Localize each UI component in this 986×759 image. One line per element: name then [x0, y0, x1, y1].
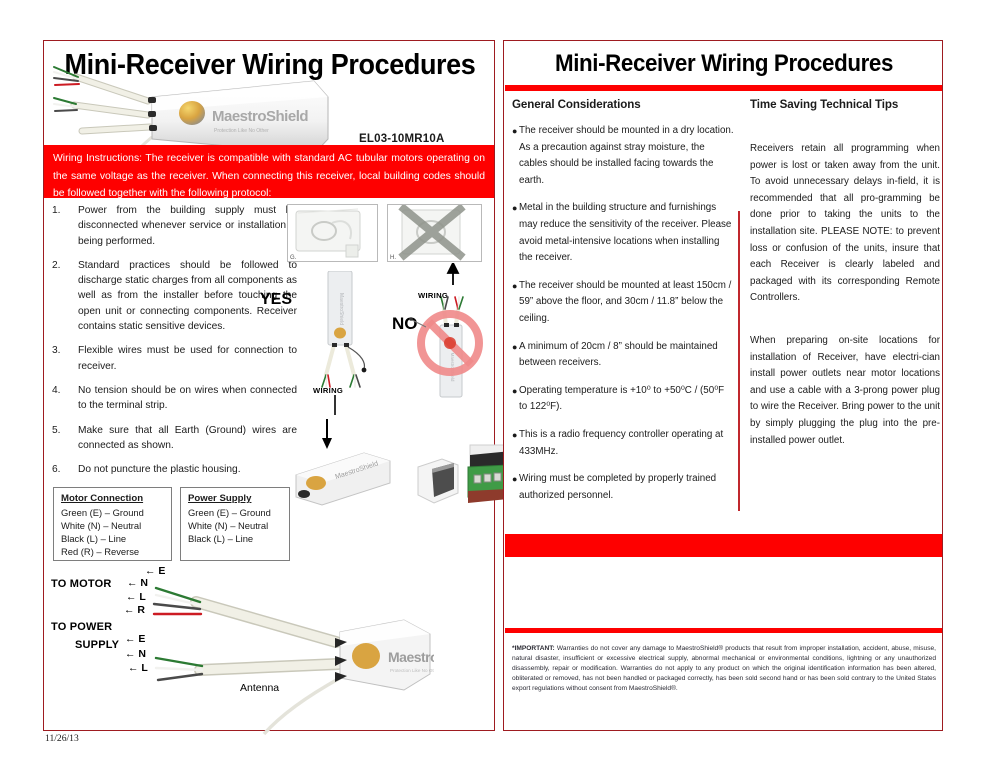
- wiring-instructions-banner: Wiring Instructions: The receiver is com…: [44, 145, 494, 198]
- list-item: 5. Make sure that all Earth (Ground) wir…: [52, 423, 297, 454]
- consideration-text: Operating temperature is +10⁰ to +50⁰C /…: [519, 383, 734, 416]
- list-item: 4. No tension should be on wires when co…: [52, 383, 297, 414]
- table-row: White (N) – Neutral: [188, 519, 282, 532]
- consideration-text: The receiver should be mounted at least …: [519, 278, 734, 328]
- list-item: ● This is a radio frequency controller o…: [512, 427, 734, 460]
- antenna-label: Antenna: [240, 682, 279, 694]
- date-stamp: 11/26/13: [45, 733, 79, 744]
- list-item: ● The receiver should be mounted in a dr…: [512, 123, 734, 189]
- general-considerations-heading: General Considerations: [512, 98, 641, 111]
- tip-paragraph: When preparing on-site locations for ins…: [750, 333, 940, 449]
- technical-tips-heading: Time Saving Technical Tips: [750, 98, 898, 111]
- warranty-disclaimer: *IMPORTANT: Warranties do not cover any …: [512, 644, 936, 694]
- protocol-step-list: 1. Power from the building supply must b…: [52, 203, 297, 486]
- warranty-label: *IMPORTANT:: [512, 645, 555, 652]
- step-number: 6.: [52, 462, 78, 477]
- table-heading: Motor Connection: [61, 493, 164, 504]
- yes-label: YES: [260, 291, 292, 309]
- table-row: Black (L) – Line: [61, 532, 164, 545]
- step-number: 5.: [52, 423, 78, 454]
- bullet-dot-icon: ●: [512, 278, 519, 328]
- right-panel: Mini-Receiver Wiring Procedures General …: [503, 40, 943, 731]
- enclosure-incorrect-illustration: [388, 205, 481, 261]
- table-heading: Power Supply: [188, 493, 282, 504]
- svg-text:MaestroShield: MaestroShield: [450, 353, 455, 382]
- tip-paragraph: Receivers retain all programming when po…: [750, 141, 940, 307]
- list-item: 6. Do not puncture the plastic housing.: [52, 462, 297, 477]
- model-number-1: EL03-10MR10A: [359, 133, 445, 145]
- enclosure-correct-illustration: [288, 205, 377, 261]
- table-row: Green (E) – Ground: [188, 506, 282, 519]
- red-separator-bar: [505, 534, 942, 557]
- step-text: Power from the building supply must be d…: [78, 203, 297, 249]
- wiring-caption-no: WIRING: [418, 291, 448, 300]
- list-item: ● The receiver should be mounted at leas…: [512, 278, 734, 328]
- step-number: 3.: [52, 343, 78, 374]
- wiring-connection-diagram-photo: MaestroShield Protection Like No Other: [104, 586, 434, 736]
- sample-tag-h: H.: [390, 255, 396, 261]
- bullet-dot-icon: ●: [512, 200, 519, 266]
- list-item: 3. Flexible wires must be used for conne…: [52, 343, 297, 374]
- vertical-divider: [738, 211, 740, 511]
- svg-text:MaestroShield: MaestroShield: [338, 293, 344, 325]
- motor-connection-table: Motor Connection Green (E) – Ground Whit…: [53, 487, 172, 561]
- sample-photo-h: H.: [387, 204, 482, 262]
- wiring-arrow-down-yes: [330, 395, 340, 417]
- incorrect-orientation-illustration: MaestroShield: [408, 263, 498, 403]
- warranty-text: Warranties do not cover any damage to Ma…: [512, 645, 936, 692]
- svg-text:Protection Like No Other: Protection Like No Other: [214, 128, 269, 134]
- correct-orientation-illustration: MaestroShield: [308, 271, 372, 389]
- bullet-dot-icon: ●: [512, 383, 519, 416]
- considerations-list: ● The receiver should be mounted in a dr…: [512, 123, 734, 515]
- terminal-motor-e: ← E: [145, 565, 165, 577]
- bullet-dot-icon: ●: [512, 427, 519, 460]
- list-item: ● Operating temperature is +10⁰ to +50⁰C…: [512, 383, 734, 416]
- table-row: Red (R) – Reverse: [61, 545, 164, 558]
- svg-text:Protection Like No Other: Protection Like No Other: [390, 668, 434, 673]
- step-number: 1.: [52, 203, 78, 249]
- table-row: White (N) – Neutral: [61, 519, 164, 532]
- wiring-caption-yes: WIRING: [313, 386, 343, 395]
- red-rule-line: [505, 628, 942, 633]
- consideration-text: A minimum of 20cm / 8” should be maintai…: [519, 339, 734, 372]
- title-rule: [505, 85, 942, 91]
- svg-text:MaestroShield: MaestroShield: [212, 108, 308, 125]
- step-text: Do not puncture the plastic housing.: [78, 462, 297, 477]
- consideration-text: This is a radio frequency controller ope…: [519, 427, 734, 460]
- table-row: Green (E) – Ground: [61, 506, 164, 519]
- step-number: 2.: [52, 258, 78, 334]
- step-text: Flexible wires must be used for connecti…: [78, 343, 297, 374]
- consideration-text: Metal in the building structure and furn…: [519, 200, 734, 266]
- bullet-dot-icon: ●: [512, 339, 519, 372]
- arrow-down-to-unit: [320, 419, 334, 449]
- receiver-unit-photo: MaestroShield: [290, 447, 395, 509]
- power-supply-table: Power Supply Green (E) – Ground White (N…: [180, 487, 290, 561]
- consideration-text: Wiring must be completed by properly tra…: [519, 471, 734, 504]
- bullet-dot-icon: ●: [512, 123, 519, 189]
- svg-text:MaestroShield: MaestroShield: [388, 649, 434, 665]
- left-panel: Mini-Receiver Wiring Procedures: [43, 40, 495, 731]
- document-page: Mini-Receiver Wiring Procedures: [0, 0, 986, 759]
- sample-photo-g: G.: [287, 204, 378, 262]
- step-text: Make sure that all Earth (Ground) wires …: [78, 423, 297, 454]
- consideration-text: The receiver should be mounted in a dry …: [519, 123, 734, 189]
- list-item: ● Metal in the building structure and fu…: [512, 200, 734, 266]
- step-number: 4.: [52, 383, 78, 414]
- technical-tips-content: Receivers retain all programming when po…: [750, 141, 940, 475]
- sample-tag-g: G.: [290, 255, 296, 261]
- table-row: Black (L) – Line: [188, 532, 282, 545]
- list-item: ● A minimum of 20cm / 8” should be maint…: [512, 339, 734, 372]
- right-panel-title: Mini-Receiver Wiring Procedures: [519, 50, 928, 78]
- list-item: 1. Power from the building supply must b…: [52, 203, 297, 249]
- list-item: ● Wiring must be completed by properly t…: [512, 471, 734, 504]
- step-text: No tension should be on wires when conne…: [78, 383, 297, 414]
- to-motor-label: TO MOTOR: [51, 578, 111, 590]
- bullet-dot-icon: ●: [512, 471, 519, 504]
